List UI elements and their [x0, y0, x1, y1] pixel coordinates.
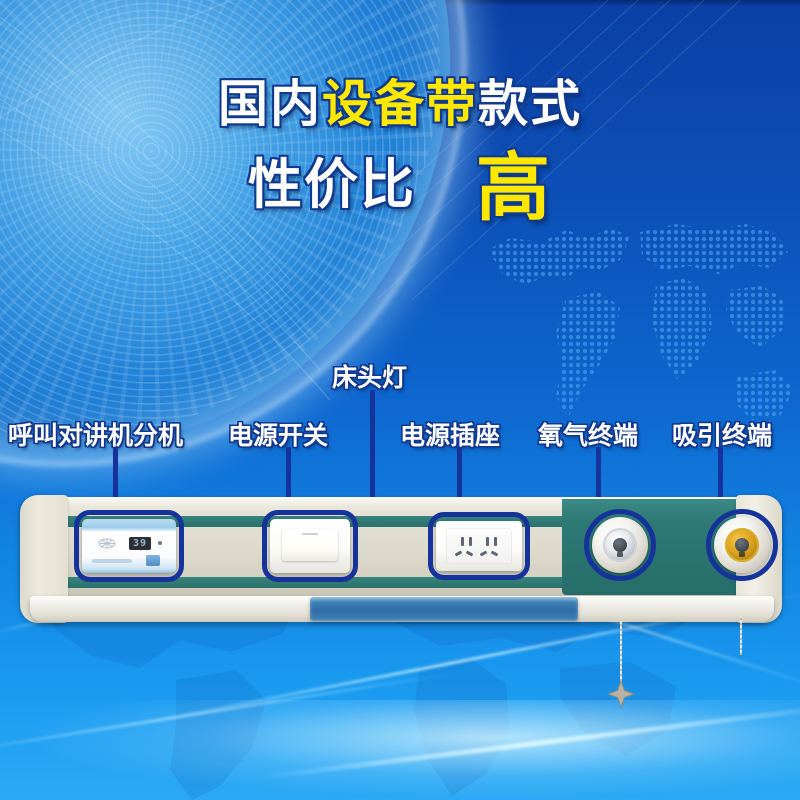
highlight-ring-power-outlet — [428, 512, 530, 580]
bed-lamp-light-strip — [310, 597, 578, 621]
headline-part-equipment-belt: 设备带 — [322, 75, 478, 133]
highlight-ring-intercom — [74, 510, 184, 582]
highlight-ring-suction-terminal — [706, 509, 778, 581]
suction-hose-cord — [740, 615, 742, 655]
callout-label-bed-lamp: 床头灯 — [332, 358, 407, 394]
headline-line-1: 国内设备带款式 — [0, 78, 800, 131]
headline-part-value: 性价比 — [248, 153, 416, 216]
headline-part-high: 高 — [476, 145, 552, 231]
highlight-ring-power-switch — [262, 510, 358, 582]
callout-label-oxygen-terminal: 氧气终端 — [538, 416, 638, 452]
headline-block: 国内设备带款式 性价比高 — [0, 78, 800, 227]
headline-part-style: 款式 — [478, 75, 582, 133]
headline-line-2: 性价比高 — [0, 149, 800, 227]
highlight-ring-oxygen-terminal — [584, 509, 656, 581]
oxygen-hose-cord — [620, 621, 622, 687]
cord-weight-cross-icon — [606, 679, 636, 709]
bottom-glow — [0, 700, 800, 800]
hospital-bedhead-panel: 39 — [22, 497, 780, 637]
callout-label-power-outlet: 电源插座 — [400, 416, 500, 452]
poster-canvas: 国内设备带款式 性价比高 呼叫对讲机分机 电源开关 床头灯 电源插座 氧气终端 … — [0, 0, 800, 800]
callout-label-intercom: 呼叫对讲机分机 — [8, 416, 183, 452]
callout-label-power-switch: 电源开关 — [228, 416, 328, 452]
headline-part-domestic: 国内 — [218, 75, 322, 133]
